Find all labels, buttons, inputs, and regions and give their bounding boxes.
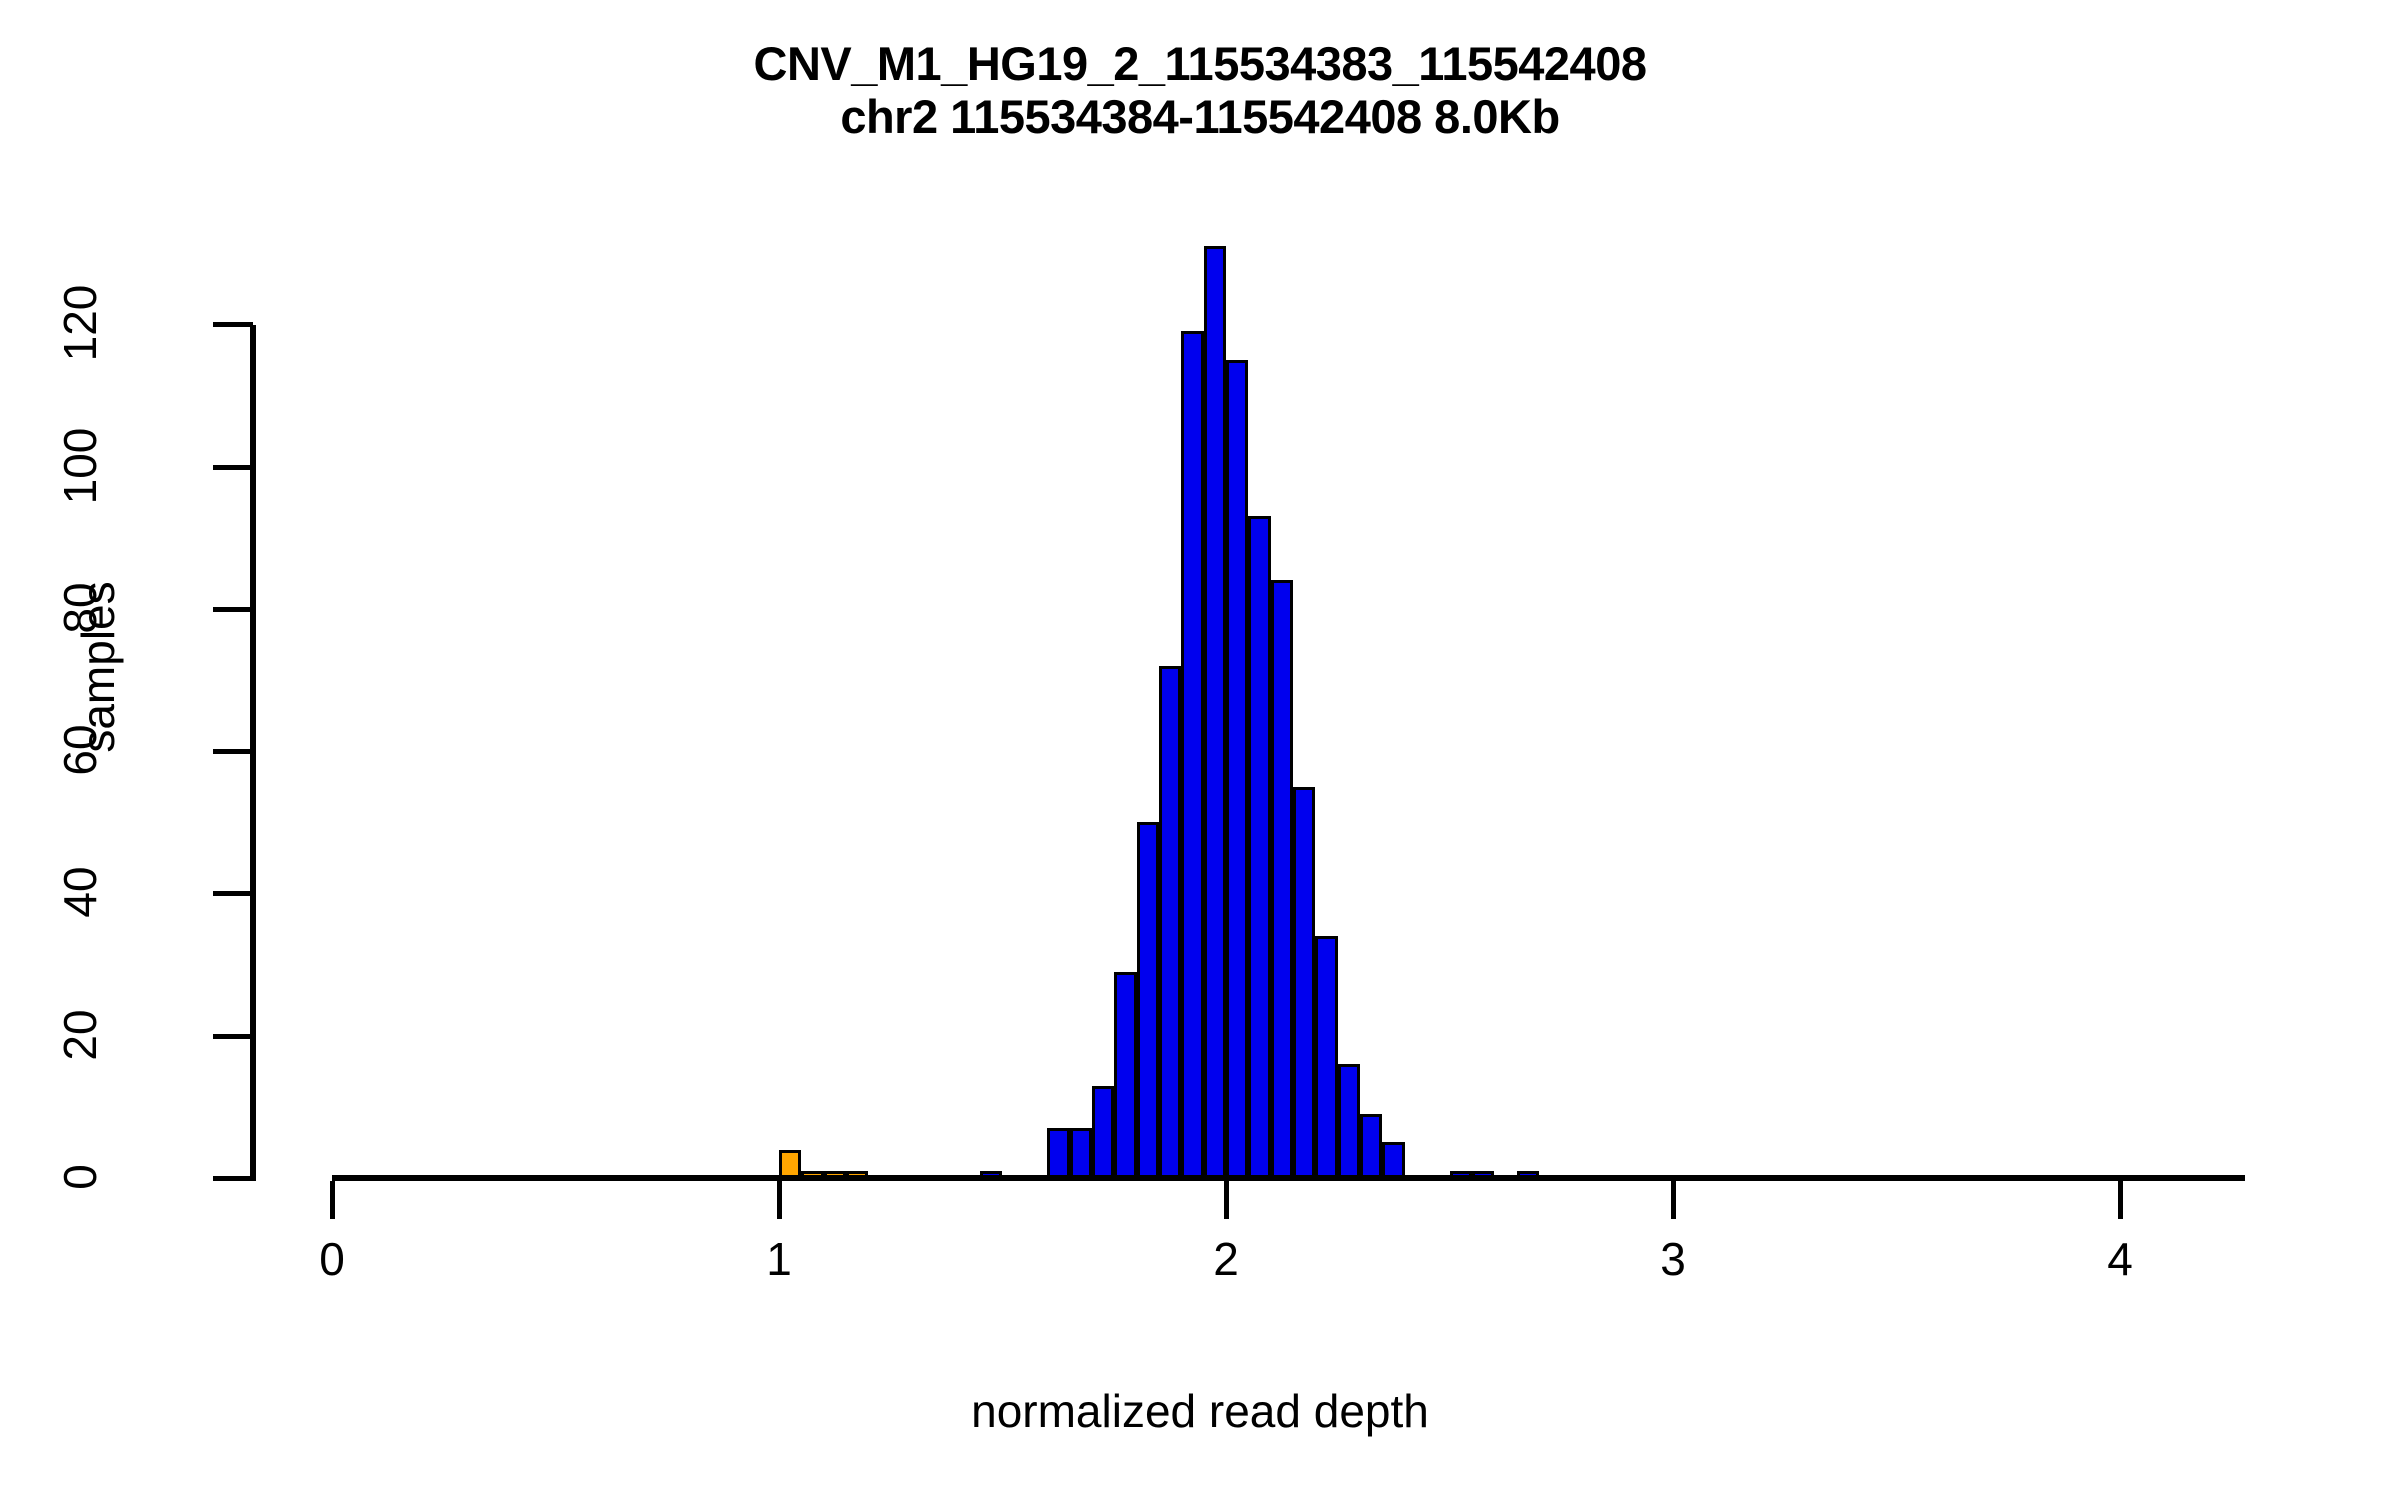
x-tick [330,1181,335,1219]
histogram-bar [1293,787,1315,1181]
x-tick [1671,1181,1676,1219]
y-tick [213,607,253,612]
histogram-bar [1092,1086,1114,1181]
y-tick-label: 120 [53,223,107,423]
histogram-figure: CNV_M1_HG19_2_115534383_115542408 chr2 1… [0,0,2400,1500]
histogram-bar [1114,972,1136,1181]
y-tick [213,322,253,327]
histogram-bar [1360,1114,1382,1181]
y-tick [213,1176,253,1181]
y-tick [213,891,253,896]
plot-area: 01234 020406080100120 samples normalized… [0,0,2400,1500]
histogram-bar [1315,936,1337,1181]
x-tick [777,1181,782,1219]
histogram-bar [1047,1128,1069,1181]
x-tick [2118,1181,2123,1219]
histogram-bar [1070,1128,1092,1181]
x-axis-title: normalized read depth [0,1384,2400,1438]
y-axis-title: samples [71,507,125,827]
histogram-bar [1181,331,1203,1181]
histogram-bar [1271,580,1293,1181]
histogram-bar [1248,516,1270,1181]
x-tick-label: 0 [272,1232,392,1286]
x-axis-line [332,1175,2245,1181]
histogram-bar [1338,1064,1360,1181]
x-tick [1224,1181,1229,1219]
y-tick [213,749,253,754]
x-tick-label: 3 [1613,1232,1733,1286]
histogram-bar [1159,666,1181,1181]
histogram-bar [1204,246,1226,1181]
x-tick-label: 4 [2060,1232,2180,1286]
histogram-bar [1137,822,1159,1181]
x-tick-label: 2 [1166,1232,1286,1286]
y-tick [213,1034,253,1039]
y-tick [213,465,253,470]
x-tick-label: 1 [719,1232,839,1286]
histogram-bar [1226,360,1248,1181]
